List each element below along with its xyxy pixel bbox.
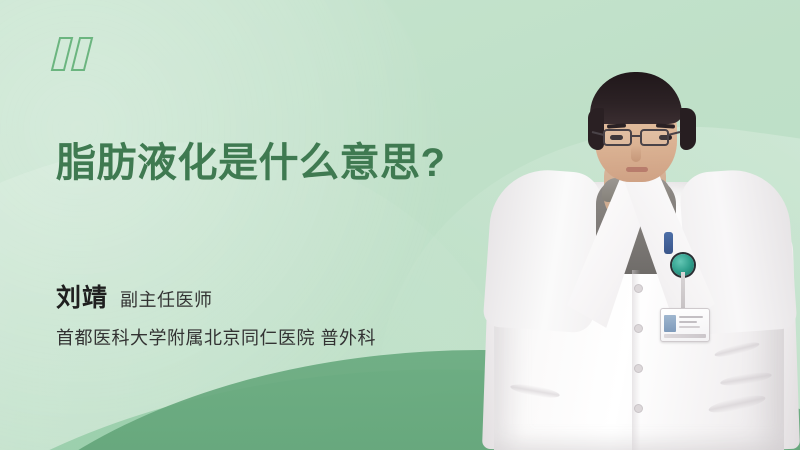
mouth <box>626 167 648 172</box>
id-badge-strip <box>664 334 706 338</box>
id-badge-line <box>679 321 697 323</box>
id-badge-card <box>660 308 710 342</box>
badge-strap <box>681 272 685 312</box>
video-cover-card: 脂肪液化是什么意思? 刘靖 副主任医师 首都医科大学附属北京同仁医院 普外科 <box>0 0 800 450</box>
coat-button <box>635 325 642 332</box>
doctor-portrait <box>476 30 800 450</box>
id-badge-line <box>679 326 700 328</box>
badge-clip <box>664 232 673 254</box>
glasses-icon <box>588 124 684 150</box>
coat-placket <box>632 270 646 450</box>
doctor-name: 刘靖 <box>56 278 108 314</box>
quotation-mark-icon <box>42 36 94 72</box>
doctor-title: 副主任医师 <box>120 286 213 312</box>
coat-button <box>635 365 642 372</box>
doctor-credit-block: 刘靖 副主任医师 首都医科大学附属北京同仁医院 普外科 <box>56 278 526 350</box>
coat-button <box>635 285 642 292</box>
doctor-affiliation: 首都医科大学附属北京同仁医院 普外科 <box>56 324 526 350</box>
coat-button <box>635 405 642 412</box>
id-badge-photo <box>664 315 676 332</box>
doctor-identity-line: 刘靖 副主任医师 <box>56 278 526 314</box>
id-badge-line <box>679 316 703 318</box>
